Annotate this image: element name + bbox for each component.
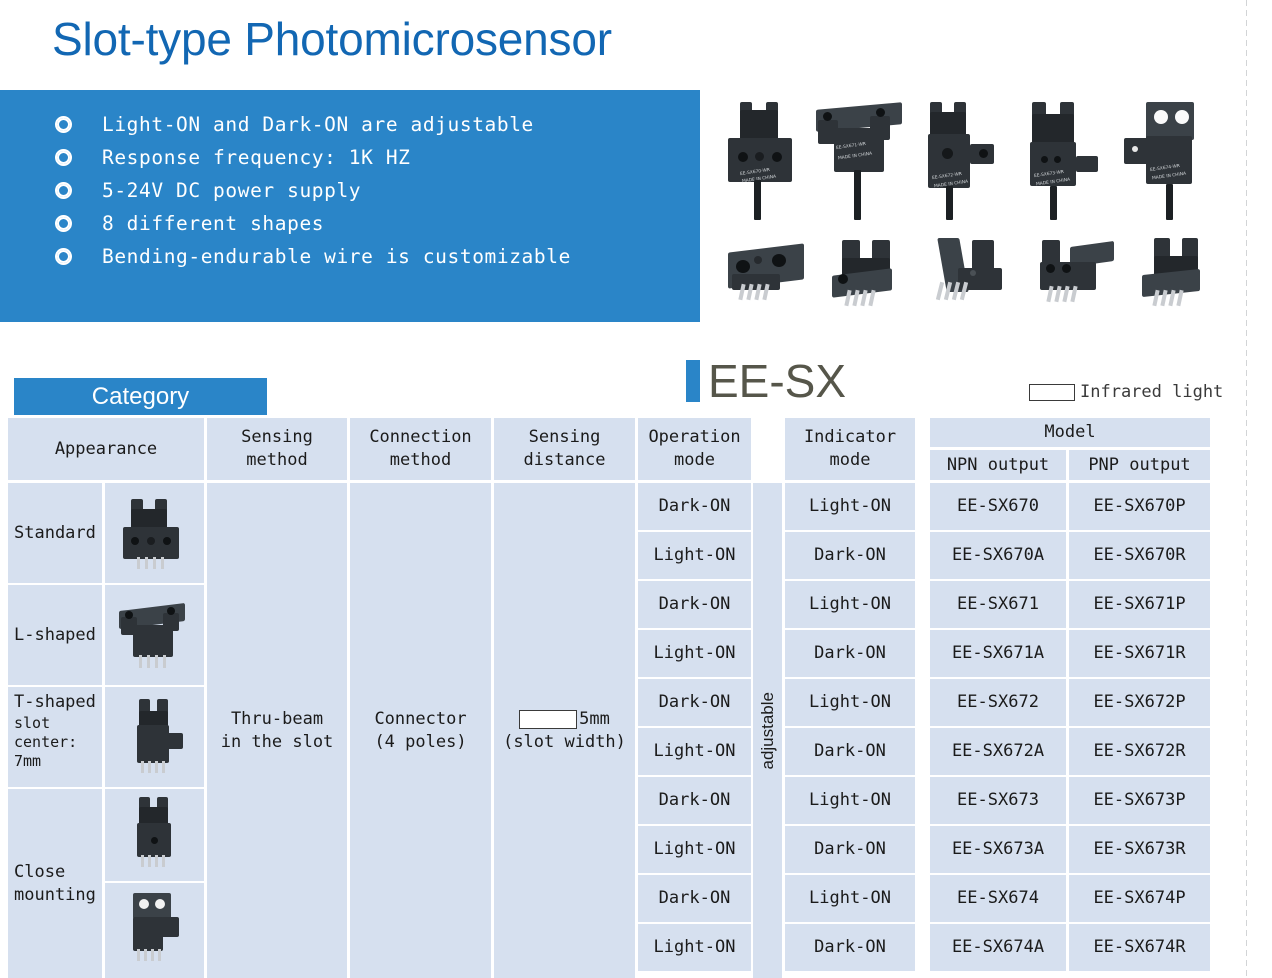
indicator-mode-cell: Light-ON	[785, 875, 915, 922]
product-photo-sx674: EE-SX674-WR MADE IN CHINA	[1118, 96, 1210, 220]
list-item: 5-24V DC power supply	[55, 174, 571, 207]
product-photo-connector-4	[1030, 234, 1126, 314]
operation-mode-cell: Light-ON	[638, 826, 751, 873]
bullet-icon	[55, 215, 72, 232]
column-header-model: Model	[930, 418, 1210, 447]
operation-mode-cell: Light-ON	[638, 728, 751, 775]
appearance-label-sub3: 7mm	[14, 752, 41, 771]
column-header-indicator-mode: Indicator mode	[785, 418, 915, 480]
product-photo-connector-2	[824, 234, 920, 314]
feature-text: 8 different shapes	[102, 212, 324, 235]
appearance-label-close-mounting: Close mounting	[8, 789, 102, 978]
operation-mode-cell: Light-ON	[638, 532, 751, 579]
product-photo-sx670: EE-SX670-WR MADE IN CHINA	[726, 100, 806, 220]
category-tab: Category	[14, 378, 267, 415]
operation-mode-cell: Dark-ON	[638, 581, 751, 628]
pnp-model-cell: EE-SX673R	[1069, 826, 1210, 873]
appearance-label-main: T-shaped	[14, 691, 96, 714]
page-title: Slot-type Photomicrosensor	[52, 8, 612, 70]
indicator-mode-cell: Dark-ON	[785, 924, 915, 971]
sensing-distance-note: (slot width)	[503, 731, 626, 754]
header-line-1: Operation	[648, 426, 740, 449]
product-photo-sx673: EE-SX673-WR MADE IN CHINA	[1026, 100, 1106, 220]
npn-model-cell: EE-SX671A	[930, 630, 1066, 677]
column-header-pnp-output: PNP output	[1069, 450, 1210, 480]
header-line-2: distance	[524, 449, 606, 472]
adjustable-column: adjustable	[753, 483, 782, 978]
bullet-icon	[55, 116, 72, 133]
npn-model-cell: EE-SX673A	[930, 826, 1066, 873]
indicator-mode-cell: Dark-ON	[785, 826, 915, 873]
connection-method-line-2: (4 poles)	[374, 731, 466, 754]
sensing-distance-row: 5mm	[519, 708, 610, 731]
column-header-connection-method: Connection method	[350, 418, 491, 480]
operation-mode-cell: Light-ON	[638, 924, 751, 971]
appearance-image-close-mounting-2	[105, 883, 204, 978]
adjustable-label: adjustable	[756, 692, 779, 770]
operation-mode-cell: Dark-ON	[638, 777, 751, 824]
indicator-mode-cell: Dark-ON	[785, 532, 915, 579]
series-heading: EE-SX	[686, 358, 846, 404]
appearance-image-standard	[105, 483, 204, 583]
legend-infrared-light: Infrared light	[1029, 382, 1223, 402]
product-photo-connector-1	[722, 238, 822, 314]
pnp-model-cell: EE-SX674R	[1069, 924, 1210, 971]
bullet-icon	[55, 149, 72, 166]
header-line-1: Sensing	[241, 426, 313, 449]
sensing-distance-number: 5mm	[579, 708, 610, 731]
header-line-2: method	[246, 449, 307, 472]
series-name: EE-SX	[708, 358, 846, 404]
bullet-icon	[55, 248, 72, 265]
sensing-distance-value: 5mm (slot width)	[494, 483, 635, 978]
feature-text: Response frequency: 1K HZ	[102, 146, 411, 169]
header-line-1: Connection	[369, 426, 471, 449]
pnp-model-cell: EE-SX670P	[1069, 483, 1210, 530]
npn-model-cell: EE-SX672A	[930, 728, 1066, 775]
operation-mode-cell: Dark-ON	[638, 679, 751, 726]
bullet-icon	[55, 182, 72, 199]
appearance-label-t-shaped: T-shaped slot center: 7mm	[8, 687, 102, 787]
appearance-label-sub2: center:	[14, 733, 77, 752]
product-photo-sx671: EE-SX671-WR MADE IN CHINA	[814, 100, 906, 220]
indicator-mode-cell: Light-ON	[785, 679, 915, 726]
sensing-method-line-2: in the slot	[221, 731, 334, 754]
product-photo-connector-3	[928, 234, 1024, 314]
list-item: 8 different shapes	[55, 207, 571, 240]
feature-text: 5-24V DC power supply	[102, 179, 361, 202]
appearance-image-l-shaped	[105, 585, 204, 685]
column-header-sensing-method: Sensing method	[207, 418, 347, 480]
datasheet-page: Slot-type Photomicrosensor Light-ON and …	[0, 0, 1272, 978]
indicator-mode-cell: Dark-ON	[785, 630, 915, 677]
column-header-npn-output: NPN output	[930, 450, 1066, 480]
indicator-mode-cell: Light-ON	[785, 483, 915, 530]
appearance-label-l-shaped: L-shaped	[8, 585, 102, 685]
feature-text: Light-ON and Dark-ON are adjustable	[102, 113, 534, 136]
pnp-model-cell: EE-SX672P	[1069, 679, 1210, 726]
npn-model-cell: EE-SX670	[930, 483, 1066, 530]
slot-width-icon	[519, 710, 577, 729]
header-line-2: method	[390, 449, 451, 472]
column-header-operation-mode: Operation mode	[638, 418, 751, 480]
feature-panel: Light-ON and Dark-ON are adjustable Resp…	[0, 90, 700, 322]
list-item: Response frequency: 1K HZ	[55, 141, 571, 174]
npn-model-cell: EE-SX674	[930, 875, 1066, 922]
appearance-label-sub1: mounting	[14, 884, 96, 907]
pnp-model-cell: EE-SX671R	[1069, 630, 1210, 677]
appearance-image-t-shaped	[105, 687, 204, 787]
feature-text: Bending-endurable wire is customizable	[102, 245, 571, 268]
operation-mode-cell: Light-ON	[638, 630, 751, 677]
product-photo-connector-5	[1134, 234, 1230, 314]
appearance-label-standard: Standard	[8, 483, 102, 583]
indicator-mode-cell: Dark-ON	[785, 728, 915, 775]
appearance-label-main: Close	[14, 861, 65, 884]
series-accent-bar	[686, 360, 700, 402]
column-header-appearance: Appearance	[8, 418, 204, 480]
pnp-model-cell: EE-SX673P	[1069, 777, 1210, 824]
feature-list: Light-ON and Dark-ON are adjustable Resp…	[55, 108, 571, 273]
header-line-1: Indicator	[804, 426, 896, 449]
pnp-model-cell: EE-SX672R	[1069, 728, 1210, 775]
npn-model-cell: EE-SX673	[930, 777, 1066, 824]
npn-model-cell: EE-SX672	[930, 679, 1066, 726]
rectangle-outline-icon	[1029, 384, 1075, 401]
list-item: Light-ON and Dark-ON are adjustable	[55, 108, 571, 141]
pnp-model-cell: EE-SX670R	[1069, 532, 1210, 579]
npn-model-cell: EE-SX671	[930, 581, 1066, 628]
header-line-2: mode	[674, 449, 715, 472]
column-header-sensing-distance: Sensing distance	[494, 418, 635, 480]
connection-method-line-1: Connector	[374, 708, 466, 731]
operation-mode-cell: Dark-ON	[638, 483, 751, 530]
pnp-model-cell: EE-SX674P	[1069, 875, 1210, 922]
npn-model-cell: EE-SX674A	[930, 924, 1066, 971]
npn-model-cell: EE-SX670A	[930, 532, 1066, 579]
pnp-model-cell: EE-SX671P	[1069, 581, 1210, 628]
appearance-label-sub1: slot	[14, 714, 50, 733]
operation-mode-cell: Dark-ON	[638, 875, 751, 922]
connection-method-value: Connector (4 poles)	[350, 483, 491, 978]
legend-label: Infrared light	[1080, 382, 1223, 402]
indicator-mode-cell: Light-ON	[785, 777, 915, 824]
indicator-mode-cell: Light-ON	[785, 581, 915, 628]
header-line-2: mode	[830, 449, 871, 472]
product-photo-strip: EE-SX670-WR MADE IN CHINA EE-SX671-WR MA…	[706, 92, 1272, 324]
appearance-image-close-mounting-1	[105, 789, 204, 881]
sensing-method-value: Thru-beam in the slot	[207, 483, 347, 978]
sensing-method-line-1: Thru-beam	[231, 708, 323, 731]
list-item: Bending-endurable wire is customizable	[55, 240, 571, 273]
header-line-1: Sensing	[529, 426, 601, 449]
product-photo-sx672: EE-SX672-WR MADE IN CHINA	[924, 100, 1004, 220]
